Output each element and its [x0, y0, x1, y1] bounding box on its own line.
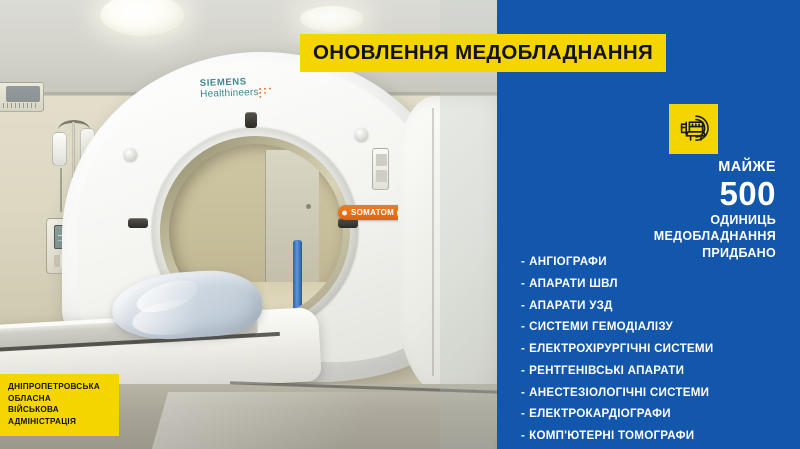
list-item-label: ЕЛЕКТРОКАРДІОГРАФИ — [529, 407, 671, 420]
stat-line-2: МЕДОБЛАДНАННЯ — [497, 229, 776, 244]
ct-scanner-icon — [669, 104, 718, 154]
list-item-label: РЕНТГЕНІВСЬКІ АПАРАТИ — [529, 364, 684, 377]
bullet-dash: - — [521, 320, 525, 333]
ct-rear-seam — [432, 108, 434, 376]
iv-bag-icon — [52, 132, 67, 166]
bullet-dash: - — [521, 277, 525, 290]
list-item: -КОМП'ЮТЕРНІ ТОМОГРАФИ — [521, 430, 800, 442]
stat-block: МАЙЖЕ 500 ОДИНИЦЬ МЕДОБЛАДНАННЯ ПРИДБАНО — [497, 160, 776, 261]
stat-number: 500 — [497, 177, 776, 211]
stat-prefix: МАЙЖЕ — [497, 160, 776, 176]
brand-name-healthineers: Healthineers — [200, 88, 259, 101]
iv-tube — [60, 168, 62, 212]
gantry-control-panel — [372, 148, 389, 190]
list-item: -ЕЛЕКТРОКАРДІОГРАФИ — [521, 408, 800, 420]
list-item: -СИСТЕМИ ГЕМОДІАЛІЗУ — [521, 321, 800, 333]
bullet-dash: - — [521, 255, 525, 268]
stat-line-1: ОДИНИЦЬ — [497, 213, 776, 228]
gantry-knob-icon — [355, 128, 368, 141]
page-title: ОНОВЛЕННЯ МЕДОБЛАДНАННЯ — [313, 41, 653, 65]
siemens-healthineers-logo: SIEMENS Healthineers — [200, 77, 259, 100]
bullet-dash: - — [521, 386, 525, 399]
bullet-dash: - — [521, 429, 525, 442]
bullet-dash: - — [521, 364, 525, 377]
wall-display-box — [6, 86, 40, 102]
org-line-3: ВІЙСЬКОВА — [8, 404, 111, 416]
list-item: -АНЕСТЕЗІОЛОГІЧНІ СИСТЕМИ — [521, 387, 800, 399]
org-line-1: ДНІПРОПЕТРОВСЬКА — [8, 381, 111, 393]
title-banner: ОНОВЛЕННЯ МЕДОБЛАДНАННЯ — [300, 34, 666, 72]
list-item: -АНГІОГРАФИ — [521, 256, 800, 268]
list-item: -АПАРАТИ УЗД — [521, 300, 800, 312]
list-item-label: АНЕСТЕЗІОЛОГІЧНІ СИСТЕМИ — [529, 386, 709, 399]
list-item-label: СИСТЕМИ ГЕМОДІАЛІЗУ — [529, 320, 673, 333]
healthineers-dots-icon — [258, 88, 272, 98]
list-item: -АПАРАТИ ШВЛ — [521, 278, 800, 290]
org-line-2: ОБЛАСНА — [8, 393, 111, 405]
gantry-sensor-icon — [245, 112, 257, 128]
list-item: -ЕЛЕКТРОХІРУРГІЧНІ СИСТЕМИ — [521, 343, 800, 355]
list-item-label: АПАРАТИ ШВЛ — [529, 277, 618, 290]
infographic-canvas: SIEMENS Healthineers SOMATOM go.Top — [0, 0, 800, 449]
list-item-label: ЕЛЕКТРОХІРУРГІЧНІ СИСТЕМИ — [529, 342, 713, 355]
gantry-knob-icon — [124, 148, 137, 161]
bullet-dash: - — [521, 407, 525, 420]
org-line-4: АДМІНІСТРАЦІЯ — [8, 416, 111, 428]
bore-background-pipe — [293, 240, 302, 318]
bore-background-cabinet — [265, 150, 319, 282]
bullet-dash: - — [521, 342, 525, 355]
list-item-label: АНГІОГРАФИ — [529, 255, 607, 268]
gantry-sensor-icon — [128, 218, 148, 228]
list-item: -РЕНТГЕНІВСЬКІ АПАРАТИ — [521, 365, 800, 377]
bullet-dash: - — [521, 299, 525, 312]
organization-badge: ДНІПРОПЕТРОВСЬКА ОБЛАСНА ВІЙСЬКОВА АДМІН… — [0, 374, 119, 436]
list-item-label: АПАРАТИ УЗД — [529, 299, 613, 312]
ceiling-light-icon — [300, 6, 364, 32]
list-item-label: КОМП'ЮТЕРНІ ТОМОГРАФИ — [529, 429, 694, 442]
equipment-list: -АНГІОГРАФИ -АПАРАТИ ШВЛ -АПАРАТИ УЗД -С… — [521, 256, 800, 449]
